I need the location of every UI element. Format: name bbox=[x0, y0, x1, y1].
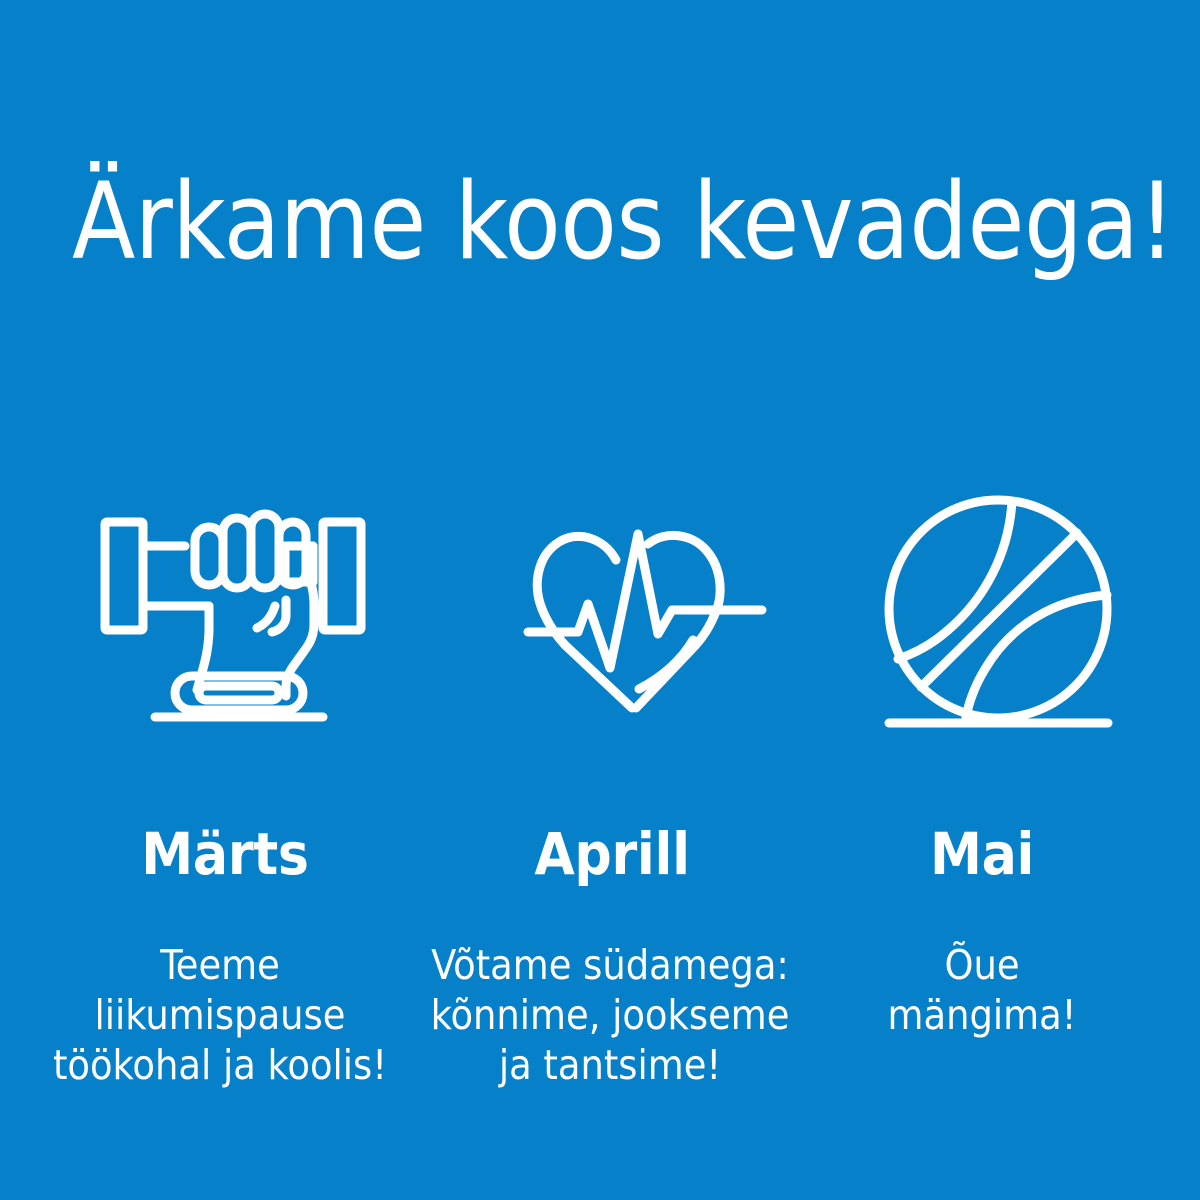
month-column-marts: Märts Teeme liikumispause töökohal ja ko… bbox=[0, 470, 420, 1150]
month-label: Aprill bbox=[432, 825, 792, 883]
month-description: Võtame südamega: kõnnime, jookseme ja ta… bbox=[430, 940, 790, 1090]
basketball-icon bbox=[798, 490, 1198, 740]
month-description: Õue mängima! bbox=[772, 940, 1192, 1040]
month-columns: Märts Teeme liikumispause töökohal ja ko… bbox=[0, 470, 1200, 1150]
month-label: Mai bbox=[772, 825, 1192, 883]
dumbbell-hand-icon bbox=[35, 490, 435, 740]
month-column-mai: Mai Õue mängima! bbox=[780, 470, 1200, 1150]
page-title: Ärkame koos kevadega! bbox=[72, 165, 1120, 279]
heart-pulse-icon bbox=[465, 490, 825, 740]
month-column-aprill: Aprill Võtame südamega: kõnnime, jooksem… bbox=[420, 470, 780, 1150]
month-label: Märts bbox=[15, 825, 435, 883]
poster-canvas: Ärkame koos kevadega! bbox=[0, 0, 1200, 1200]
month-description: Teeme liikumispause töökohal ja koolis! bbox=[10, 940, 430, 1090]
